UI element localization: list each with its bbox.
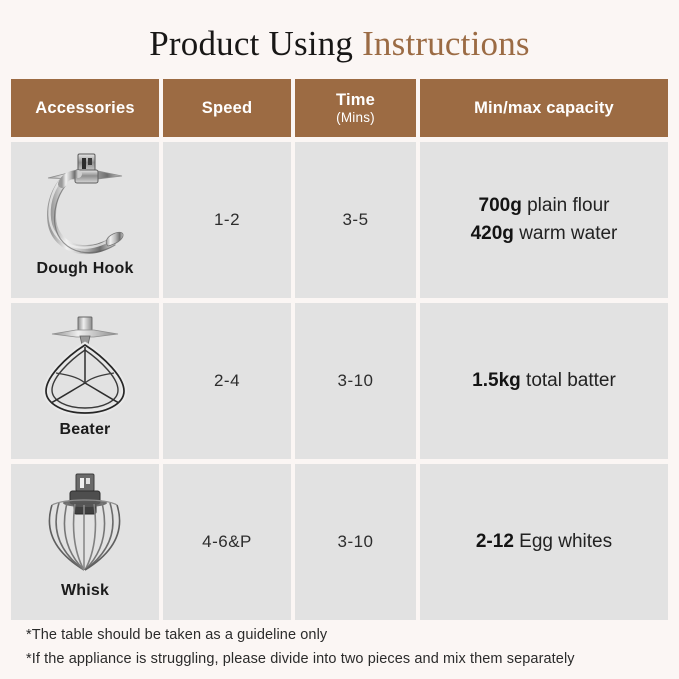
accessory-label: Whisk <box>11 582 159 600</box>
time-cell: 3-10 <box>295 303 416 459</box>
table-row: Dough Hook 1-2 3-5 700g plain flour 420g… <box>11 142 668 298</box>
time-value: 3-10 <box>337 532 373 552</box>
capacity-line: 700g plain flour <box>471 192 618 220</box>
accessory-cell-whisk: Whisk <box>11 464 159 620</box>
accessory-label: Beater <box>11 421 159 439</box>
column-header-speed: Speed <box>163 79 291 137</box>
table-header-row: Accessories Speed Time (Mins) Min/max ca… <box>11 79 668 137</box>
column-header-time-label: Time <box>336 91 375 110</box>
accessory-label: Dough Hook <box>11 260 159 278</box>
page-title: Product Using Instructions <box>0 22 679 66</box>
column-header-time-unit: (Mins) <box>336 110 375 126</box>
capacity-cell: 2-12 Egg whites <box>420 464 668 620</box>
speed-value: 4-6&P <box>202 532 252 552</box>
table-row: Whisk 4-6&P 3-10 2-12 Egg whites <box>11 464 668 620</box>
capacity-cell: 700g plain flour 420g warm water <box>420 142 668 298</box>
time-value: 3-5 <box>342 210 368 230</box>
capacity-line: 1.5kg total batter <box>472 367 616 395</box>
capacity-line: 2-12 Egg whites <box>476 528 612 556</box>
capacity-cell: 1.5kg total batter <box>420 303 668 459</box>
accessory-cell-beater: Beater <box>11 303 159 459</box>
footnote-1: *The table should be taken as a guidelin… <box>26 623 666 647</box>
whisk-icon <box>26 472 144 580</box>
footnote-2: *If the appliance is struggling, please … <box>26 647 666 671</box>
speed-cell: 2-4 <box>163 303 291 459</box>
time-cell: 3-10 <box>295 464 416 620</box>
speed-cell: 1-2 <box>163 142 291 298</box>
product-instructions-page: Product Using Instructions Accessories S… <box>0 0 679 679</box>
column-header-time: Time (Mins) <box>295 79 416 137</box>
column-header-capacity: Min/max capacity <box>420 79 668 137</box>
capacity-amount: 420g <box>471 223 514 244</box>
capacity-amount: 700g <box>479 195 522 216</box>
time-value: 3-10 <box>337 371 373 391</box>
column-header-speed-label: Speed <box>202 99 253 118</box>
page-title-primary: Product Using <box>149 24 362 63</box>
accessory-cell-dough-hook: Dough Hook <box>11 142 159 298</box>
footnotes: *The table should be taken as a guidelin… <box>26 623 666 671</box>
capacity-text: warm water <box>514 223 617 244</box>
speed-value: 1-2 <box>214 210 240 230</box>
instructions-table: Accessories Speed Time (Mins) Min/max ca… <box>11 79 668 620</box>
dough-hook-icon <box>26 150 144 258</box>
beater-icon <box>26 311 144 419</box>
table-row: Beater 2-4 3-10 1.5kg total batter <box>11 303 668 459</box>
capacity-text: Egg whites <box>514 531 612 552</box>
speed-value: 2-4 <box>214 371 240 391</box>
page-title-accent: Instructions <box>362 24 530 63</box>
capacity-text: plain flour <box>522 195 610 216</box>
column-header-accessories: Accessories <box>11 79 159 137</box>
column-header-accessories-label: Accessories <box>35 99 134 118</box>
column-header-capacity-label: Min/max capacity <box>474 99 614 118</box>
speed-cell: 4-6&P <box>163 464 291 620</box>
time-cell: 3-5 <box>295 142 416 298</box>
capacity-amount: 2-12 <box>476 531 514 552</box>
capacity-amount: 1.5kg <box>472 370 521 391</box>
capacity-line: 420g warm water <box>471 220 618 248</box>
capacity-text: total batter <box>521 370 616 391</box>
